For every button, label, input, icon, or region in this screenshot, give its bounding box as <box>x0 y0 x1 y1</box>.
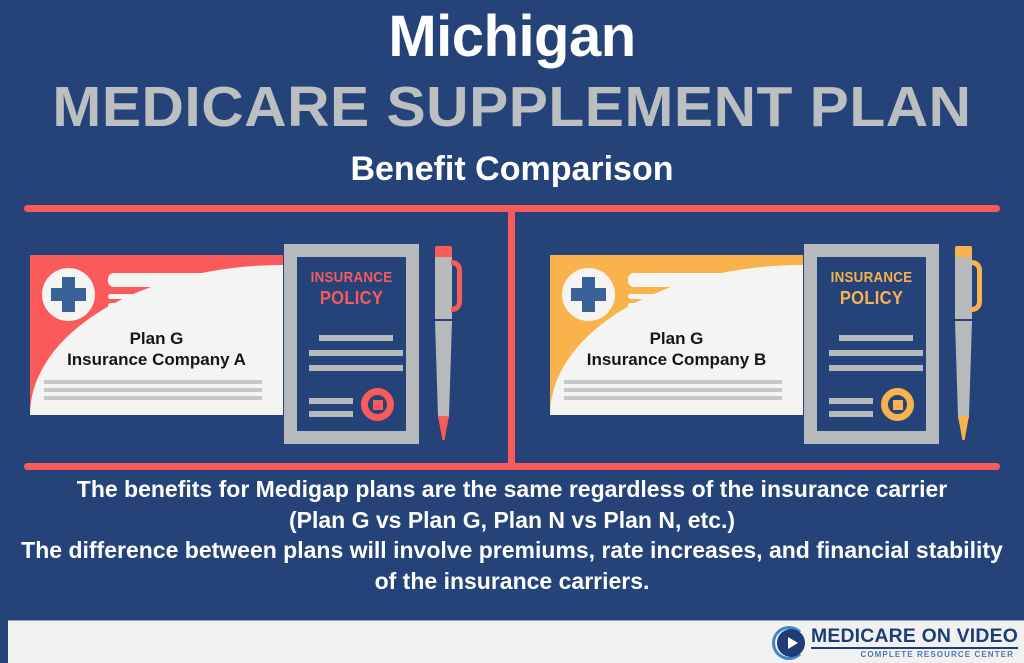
card-placeholder-bar <box>628 294 738 299</box>
insurance-policy-document-a: INSURANCE POLICY <box>284 244 419 444</box>
pen-icon <box>950 246 984 442</box>
body-copy: The benefits for Medigap plans are the s… <box>0 474 1024 596</box>
card-strip-line <box>44 396 262 400</box>
policy-text-line <box>309 350 403 356</box>
logo-text-block: MEDICARE ON VIDEO COMPLETE RESOURCE CENT… <box>811 627 1014 659</box>
page-title-state: Michigan <box>0 8 1024 66</box>
body-copy-line-3: The difference between plans will involv… <box>0 535 1024 566</box>
policy-text-line <box>319 335 393 341</box>
pen-icon <box>430 246 464 442</box>
card-strip-line <box>564 380 782 384</box>
card-strip-line <box>44 388 262 392</box>
policy-text-line <box>839 335 913 341</box>
insurance-card-a: Plan G Insurance Company A <box>30 255 283 415</box>
play-triangle <box>788 637 798 649</box>
policy-page: INSURANCE POLICY <box>813 253 930 435</box>
pen-tip <box>438 416 449 440</box>
body-copy-line-2: (Plan G vs Plan G, Plan N vs Plan N, etc… <box>0 505 1024 536</box>
header: Michigan MEDICARE SUPPLEMENT PLAN Benefi… <box>0 0 1024 200</box>
policy-seal-icon <box>361 388 394 421</box>
pen-cap-top <box>435 246 452 257</box>
body-copy-line-4: of the insurance carriers. <box>0 566 1024 597</box>
policy-text-line <box>829 398 873 404</box>
pen-body <box>435 321 452 418</box>
policy-text-line <box>309 365 403 371</box>
policy-seal-icon <box>881 388 914 421</box>
seal-center <box>893 400 903 410</box>
divider-bottom <box>24 463 1000 470</box>
policy-title-line2: POLICY <box>821 287 921 310</box>
card-placeholder-bar <box>108 294 218 299</box>
card-strip-line <box>44 380 262 384</box>
card-placeholder-bar <box>628 273 753 287</box>
cross-horizontal-bar <box>571 288 606 301</box>
insurance-card-b: Plan G Insurance Company B <box>550 255 803 415</box>
policy-title: INSURANCE POLICY <box>821 269 921 310</box>
pen-clip <box>971 260 982 312</box>
policy-title: INSURANCE POLICY <box>301 269 401 310</box>
policy-title-line1: INSURANCE <box>311 270 393 286</box>
medical-cross-icon <box>562 268 615 321</box>
page-subtitle: Benefit Comparison <box>0 152 1024 186</box>
pen-cap-top <box>955 246 972 257</box>
pen-tip <box>958 416 969 440</box>
insurance-policy-document-b: INSURANCE POLICY <box>804 244 939 444</box>
medical-cross-icon <box>42 268 95 321</box>
infographic-canvas: Michigan MEDICARE SUPPLEMENT PLAN Benefi… <box>0 0 1024 663</box>
body-copy-line-1: The benefits for Medigap plans are the s… <box>0 474 1024 505</box>
logo-circle <box>777 629 805 657</box>
card-plan-label: Plan G <box>30 329 283 349</box>
card-placeholder-bar <box>628 303 738 308</box>
cross-horizontal-bar <box>51 288 86 301</box>
policy-title-line1: INSURANCE <box>831 270 913 286</box>
divider-vertical <box>508 208 515 466</box>
policy-text-line <box>829 365 923 371</box>
logo-name: MEDICARE ON VIDEO <box>811 627 1018 649</box>
card-company-label: Insurance Company A <box>30 350 283 370</box>
card-company-label: Insurance Company B <box>550 350 803 370</box>
comparison-panel-left: Plan G Insurance Company A INSURANCE POL… <box>22 232 502 457</box>
seal-center <box>373 400 383 410</box>
card-strip-line <box>564 396 782 400</box>
policy-title-line2: POLICY <box>301 287 401 310</box>
pen-cap <box>955 257 972 319</box>
brand-logo[interactable]: MEDICARE ON VIDEO COMPLETE RESOURCE CENT… <box>772 625 1014 661</box>
comparison-panel-right: Plan G Insurance Company B INSURANCE POL… <box>542 232 1022 457</box>
policy-text-line <box>829 350 923 356</box>
policy-text-line <box>829 411 873 417</box>
pen-cap <box>435 257 452 319</box>
pen-clip <box>451 260 462 312</box>
pen-body <box>955 321 972 418</box>
policy-text-line <box>309 398 353 404</box>
card-placeholder-bar <box>108 273 233 287</box>
card-strip-line <box>564 388 782 392</box>
page-title-main: MEDICARE SUPPLEMENT PLAN <box>0 79 1024 136</box>
card-plan-label: Plan G <box>550 329 803 349</box>
play-button-icon <box>772 625 808 661</box>
footer-bar: MEDICARE ON VIDEO COMPLETE RESOURCE CENT… <box>8 620 1024 663</box>
policy-page: INSURANCE POLICY <box>293 253 410 435</box>
policy-text-line <box>309 411 353 417</box>
logo-tagline: COMPLETE RESOURCE CENTER <box>811 651 1014 659</box>
card-placeholder-bar <box>108 303 218 308</box>
